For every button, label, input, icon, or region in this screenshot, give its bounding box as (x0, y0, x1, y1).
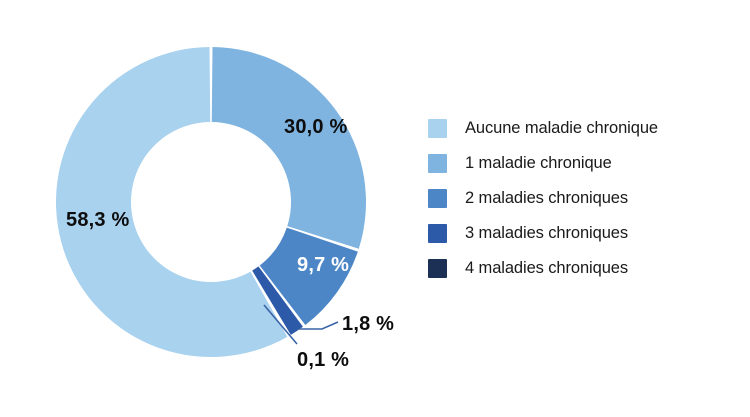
legend-swatch-icon (428, 154, 447, 173)
legend-item-label: 2 maladies chroniques (465, 189, 628, 208)
legend-item-4-maladies-chroniques: 4 maladies chroniques (428, 251, 728, 286)
legend-item-1-maladie-chronique: 1 maladie chronique (428, 146, 728, 181)
legend-item-3-maladies-chroniques: 3 maladies chroniques (428, 216, 728, 251)
slice-label-1-maladie: 30,0 % (284, 116, 347, 139)
legend-swatch-icon (428, 119, 447, 138)
legend-item-label: Aucune maladie chronique (465, 119, 658, 138)
chart-legend: Aucune maladie chronique 1 maladie chron… (428, 111, 728, 286)
legend-item-label: 1 maladie chronique (465, 154, 612, 173)
donut-chart: 30,0 % 58,3 % 9,7 % 1,8 % 0,1 % Aucune m… (0, 0, 750, 417)
legend-item-label: 3 maladies chroniques (465, 224, 628, 243)
slice-label-3-maladies: 1,8 % (342, 313, 394, 336)
legend-item-aucune-maladie-chronique: Aucune maladie chronique (428, 111, 728, 146)
legend-swatch-icon (428, 189, 447, 208)
donut-slices (56, 47, 366, 357)
slice-label-4-maladies: 0,1 % (297, 349, 349, 372)
legend-swatch-icon (428, 224, 447, 243)
legend-swatch-icon (428, 259, 447, 278)
donut-slice[interactable] (212, 47, 366, 249)
slice-label-2-maladies: 9,7 % (297, 254, 349, 277)
legend-item-label: 4 maladies chroniques (465, 259, 628, 278)
legend-item-2-maladies-chroniques: 2 maladies chroniques (428, 181, 728, 216)
slice-label-aucune-maladie: 58,3 % (66, 209, 129, 232)
